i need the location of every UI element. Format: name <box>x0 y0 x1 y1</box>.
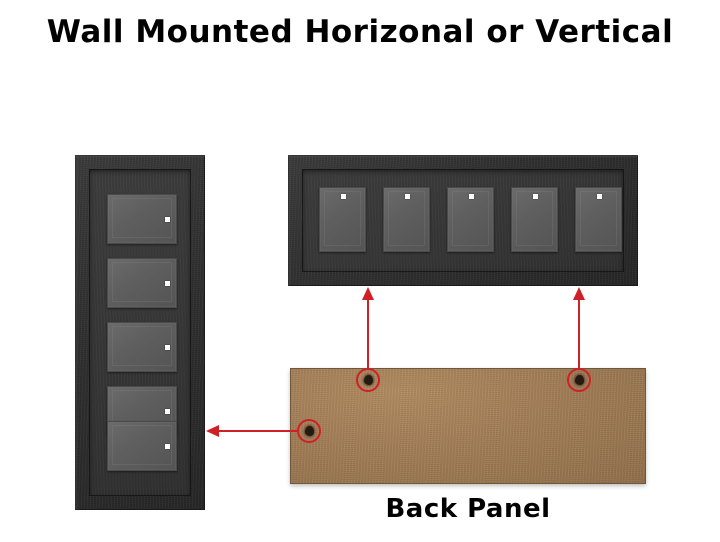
vertical-slot-5[interactable] <box>107 421 177 471</box>
mount-dot-icon <box>165 345 170 350</box>
frame-bevel-top <box>288 155 638 158</box>
arrow-shaft <box>578 299 580 369</box>
mount-dot-icon <box>469 194 474 199</box>
vertical-frame <box>75 155 205 510</box>
keyhole-top-right[interactable] <box>567 368 591 392</box>
back-panel <box>290 368 646 484</box>
frame-bevel-top <box>75 155 205 158</box>
vertical-slot-3[interactable] <box>107 322 177 372</box>
mount-dot-icon <box>341 194 346 199</box>
arrow-head-icon <box>206 425 219 437</box>
keyhole-side-left[interactable] <box>297 419 321 443</box>
frame-bevel-left <box>288 155 291 286</box>
mount-dot-icon <box>405 194 410 199</box>
mount-dot-icon <box>165 217 170 222</box>
arrow-shaft <box>219 430 297 432</box>
horizontal-slot-4[interactable] <box>511 187 558 252</box>
arrow-shaft <box>367 299 369 369</box>
back-panel-caption: Back Panel <box>290 494 646 524</box>
arrow-head-icon <box>362 287 374 300</box>
horizontal-slot-2[interactable] <box>383 187 430 252</box>
keyhole-slot-icon <box>305 426 314 436</box>
horizontal-slot-5[interactable] <box>575 187 622 252</box>
vertical-slot-1[interactable] <box>107 194 177 244</box>
keyhole-top-left[interactable] <box>356 368 380 392</box>
diagram-canvas: Wall Mounted Horizonal or Vertical <box>0 0 720 542</box>
mount-dot-icon <box>597 194 602 199</box>
mount-dot-icon <box>165 281 170 286</box>
mount-dot-icon <box>165 444 170 449</box>
vertical-slot-2[interactable] <box>107 258 177 308</box>
arrow-head-icon <box>573 287 585 300</box>
keyhole-slot-icon <box>575 375 584 385</box>
mount-dot-icon <box>533 194 538 199</box>
mount-dot-icon <box>165 409 170 414</box>
horizontal-frame <box>288 155 638 286</box>
frame-bevel-left <box>75 155 78 510</box>
horizontal-slot-1[interactable] <box>319 187 366 252</box>
page-title: Wall Mounted Horizonal or Vertical <box>0 14 720 50</box>
horizontal-slot-3[interactable] <box>447 187 494 252</box>
keyhole-slot-icon <box>364 375 373 385</box>
